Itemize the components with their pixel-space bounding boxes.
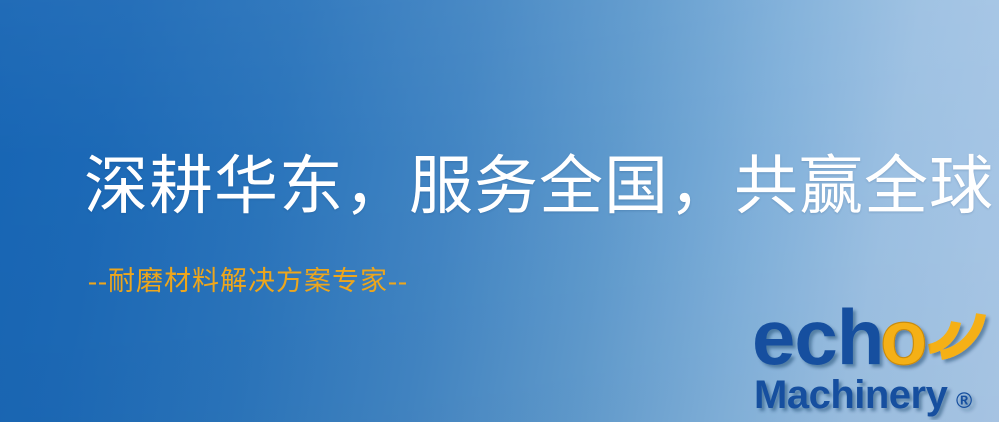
logo-wordmark-blue: ech — [752, 293, 883, 381]
banner-headline: 深耕华东，服务全国，共赢全球 — [84, 155, 994, 219]
registered-trademark-icon: ® — [956, 388, 972, 413]
echo-machinery-logo[interactable]: ech o Machinery ® — [752, 292, 997, 420]
banner-subtitle: --耐磨材料解决方案专家-- — [88, 268, 408, 295]
hero-banner: 深耕华东，服务全国，共赢全球 --耐磨材料解决方案专家-- ech o — [0, 0, 999, 422]
signal-arcs-icon — [929, 314, 981, 355]
logo-tagline: Machinery — [754, 373, 949, 417]
logo-wordmark-gold-o: o — [880, 293, 928, 381]
